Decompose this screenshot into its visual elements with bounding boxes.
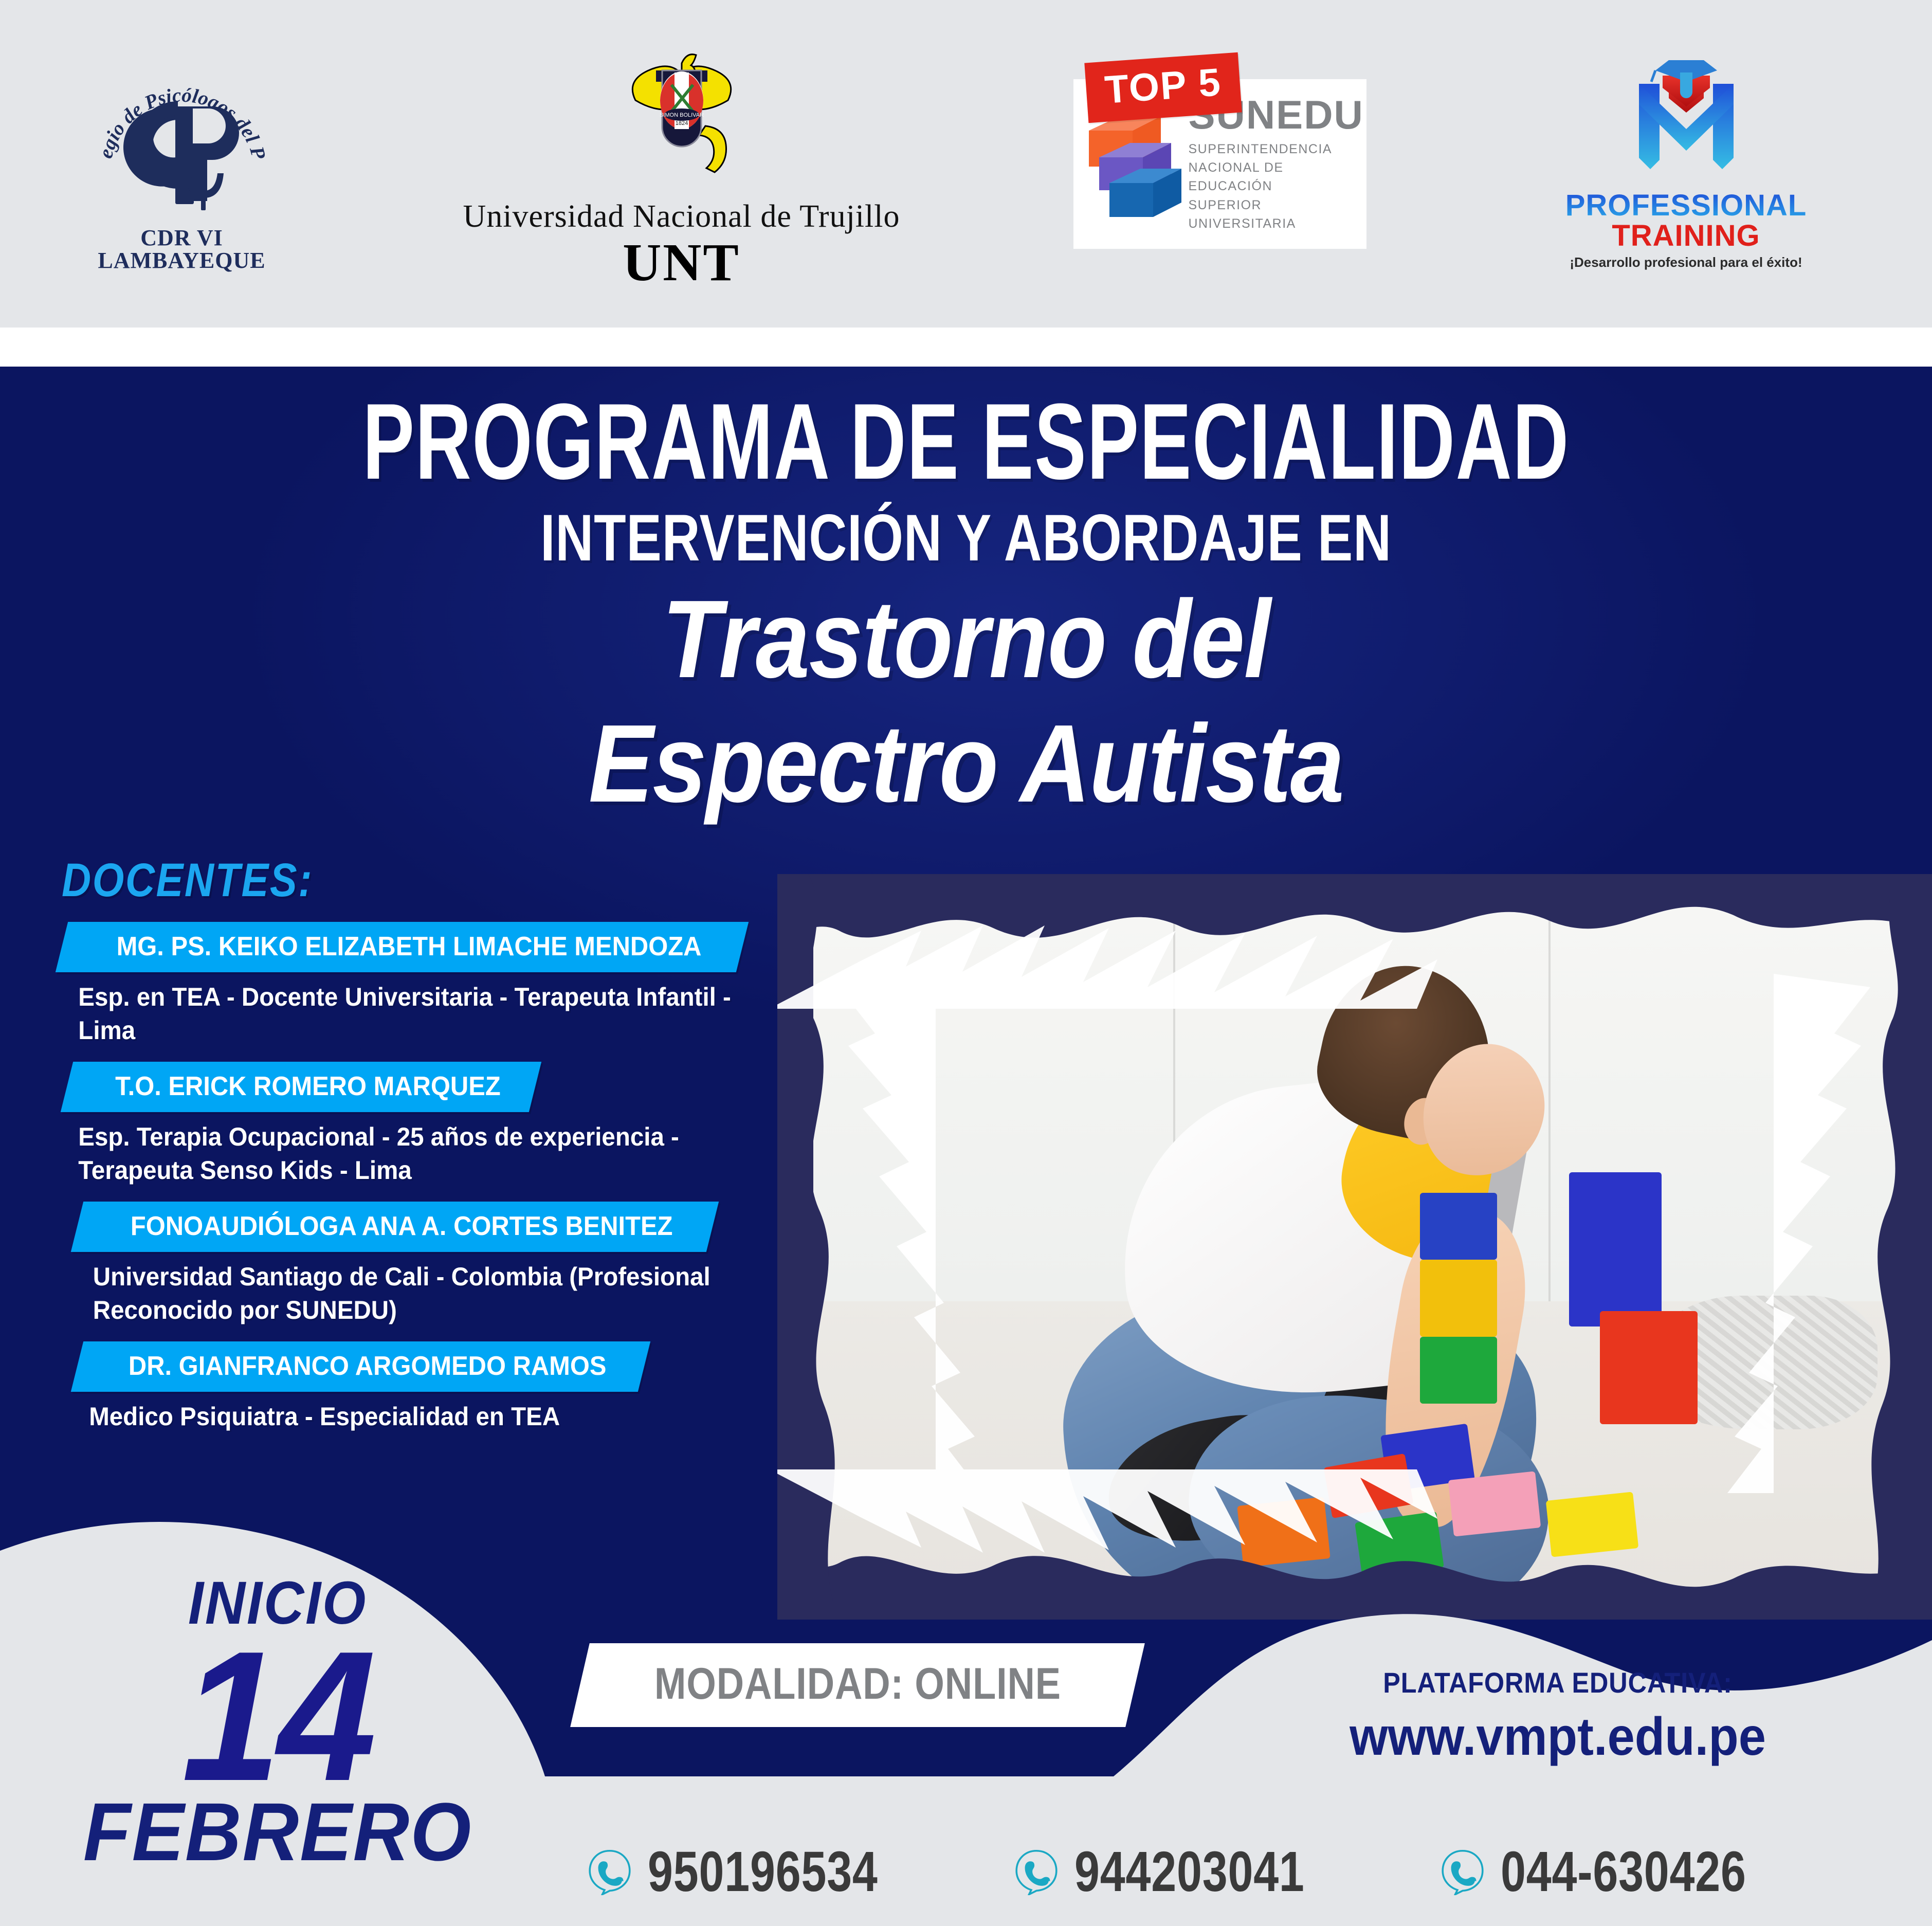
contact-number: 044-630426 [1501,1839,1746,1904]
logo-sunedu: TOP 5 [1061,79,1379,249]
cpp-sub-line1: CDR VI [98,227,265,249]
teacher-name: FONOAUDIÓLOGA ANA A. CORTES BENITEZ [131,1211,673,1242]
sunedu-text-block: SUNEDU SUPERINTENDENCIA NACIONAL DE EDUC… [1189,95,1366,233]
sunedu-sub-line2: NACIONAL DE EDUCACIÓN [1189,158,1366,196]
platform-label: PLATAFORMA EDUCATIVA: [1303,1666,1812,1699]
start-month: FEBRERO [78,1793,478,1871]
title-line-programa: PROGRAMA DE ESPECIALIDAD [270,391,1662,492]
teacher-description: Esp. en TEA - Docente Universitaria - Te… [62,980,755,1047]
logo-unt: SIMON BOLIVAR 1824 Universidad Nacional … [425,39,939,289]
cpp-sub-text: CDR VI LAMBAYEQUE [98,227,265,272]
sunedu-subtitle: SUPERINTENDENCIA NACIONAL DE EDUCACIÓN S… [1189,140,1366,233]
pt-title-line1: PROFESSIONAL [1565,191,1807,221]
contact-number: 950196534 [648,1839,878,1904]
unt-title: Universidad Nacional de Trujillo [463,198,900,235]
start-date-block: INICIO 14 FEBRERO [67,1568,488,1871]
photo-toy-block [1569,1172,1662,1327]
modality-label: MODALIDAD: ONLINE [654,1659,1061,1710]
phone-icon [1013,1848,1060,1895]
teacher-name-bar: MG. PS. KEIKO ELIZABETH LIMACHE MENDOZA [56,922,749,972]
contact-numbers: 950196534 944203041 044-630426 [586,1830,1902,1913]
teacher-name: MG. PS. KEIKO ELIZABETH LIMACHE MENDOZA [117,931,702,962]
teacher-name-bar: FONOAUDIÓLOGA ANA A. CORTES BENITEZ [71,1202,719,1252]
header-divider [0,328,1932,367]
teacher-entry: T.O. ERICK ROMERO MARQUEZ Esp. Terapia O… [62,1062,792,1187]
contact-item[interactable]: 944203041 [1013,1839,1362,1904]
teacher-entry: DR. GIANFRANCO ARGOMEDO RAMOS Medico Psi… [62,1341,792,1433]
teacher-name: T.O. ERICK ROMERO MARQUEZ [115,1071,501,1102]
photo-toy-block [1546,1492,1639,1557]
child-playing-blocks-photo [813,905,1898,1589]
teacher-name-bar: DR. GIANFRANCO ARGOMEDO RAMOS [71,1341,650,1392]
docentes-section: DOCENTES: MG. PS. KEIKO ELIZABETH LIMACH… [62,853,792,1433]
phone-icon [586,1848,633,1895]
logo-professional-training: PROFESSIONAL TRAINING ¡Desarrollo profes… [1501,57,1871,271]
teacher-description: Universidad Santiago de Cali - Colombia … [62,1260,755,1327]
photo-toy-block [1420,1337,1497,1404]
contact-item[interactable]: 044-630426 [1439,1839,1808,1904]
teacher-name-bar: T.O. ERICK ROMERO MARQUEZ [61,1062,542,1112]
photo-toy-block [1420,1260,1497,1337]
photo-toy-block [1600,1311,1698,1424]
contact-item[interactable]: 950196534 [586,1839,936,1904]
photo-toy-block [1420,1193,1497,1260]
pt-title-line2: TRAINING [1612,221,1760,252]
contact-number: 944203041 [1074,1839,1305,1904]
svg-text:1824: 1824 [675,120,687,126]
title-line-intervencion: INTERVENCIÓN Y ABORDAJE EN [193,505,1739,571]
start-day: 14 [75,1635,480,1798]
course-photo-panel [777,874,1932,1620]
sunedu-sub-line1: SUPERINTENDENCIA [1189,140,1366,158]
docentes-heading: DOCENTES: [62,853,689,907]
photo-toy-block [1355,1511,1444,1578]
cpp-emblem-icon: Colegio de Psicólogos del Perú [97,56,267,226]
teacher-name: DR. GIANFRANCO ARGOMEDO RAMOS [129,1351,607,1382]
logo-header: Colegio de Psicólogos del Perú CDR VI [0,0,1932,328]
photo-toy-block [1448,1471,1541,1536]
pt-tagline: ¡Desarrollo profesional para el éxito! [1570,255,1802,270]
phone-icon [1439,1848,1486,1895]
top5-badge: TOP 5 [1084,52,1242,123]
teacher-description: Medico Psiquiatra - Especialidad en TEA [62,1400,755,1433]
unt-crest-icon: SIMON BOLIVAR 1824 [605,39,759,195]
svg-text:SIMON BOLIVAR: SIMON BOLIVAR [660,112,704,118]
title-line-trastorno: Trastorno del [116,583,1816,695]
page-title: PROGRAMA DE ESPECIALIDAD INTERVENCIÓN Y … [0,391,1932,820]
modality-badge: MODALIDAD: ONLINE [570,1643,1145,1727]
platform-block: PLATAFORMA EDUCATIVA: www.vmpt.edu.pe [1275,1666,1840,1768]
teacher-entry: MG. PS. KEIKO ELIZABETH LIMACHE MENDOZA … [62,922,792,1047]
pt-graduate-m-icon [1619,57,1753,191]
unt-acronym: UNT [623,236,740,289]
poster-root: Colegio de Psicólogos del Perú CDR VI [0,0,1932,1926]
logo-colegio-psicologos: Colegio de Psicólogos del Perú CDR VI [61,56,303,272]
teacher-description: Esp. Terapia Ocupacional - 25 años de ex… [62,1120,755,1187]
teacher-entry: FONOAUDIÓLOGA ANA A. CORTES BENITEZ Univ… [62,1202,792,1327]
photo-toy-block [1237,1497,1330,1567]
sunedu-sub-line3: SUPERIOR UNIVERSITARIA [1189,196,1366,233]
platform-url[interactable]: www.vmpt.edu.pe [1298,1706,1818,1768]
title-line-espectro: Espectro Autista [116,707,1816,820]
cpp-sub-line2: LAMBAYEQUE [98,249,265,272]
